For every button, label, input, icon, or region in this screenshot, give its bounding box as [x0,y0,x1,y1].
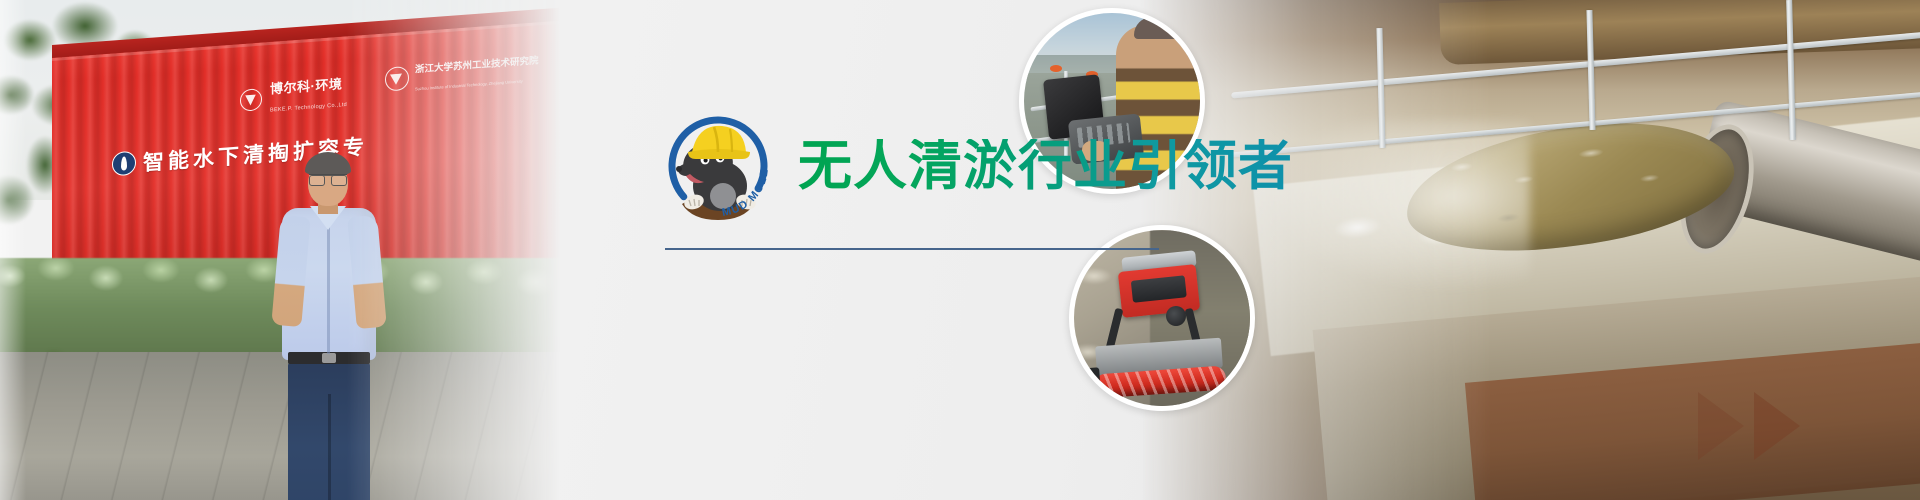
person-photo [268,150,398,500]
hair [305,152,351,176]
institute-mark-icon [385,66,409,92]
water-drop-icon [112,151,136,177]
page-title: 无人清淤行业引领者 [798,139,1299,193]
mud-mole-logo: MUD MOLE MUD MOLE [660,108,776,224]
right-photo [1140,0,1920,500]
shirt-placket [327,224,330,354]
hero-banner: 博尔科·环境 BEKE.P. Technology Co.,Ltd 浙江大学苏州… [0,0,1920,500]
left-photo: 博尔科·环境 BEKE.P. Technology Co.,Ltd 浙江大学苏州… [0,0,560,500]
glasses-icon [309,174,347,184]
belt-buckle [322,353,336,363]
arrow-decoration [1698,392,1744,460]
trousers [288,360,370,500]
divider [665,248,1159,250]
center-content: MUD MOLE MUD MOLE 无人清淤行业引领者 [660,0,1220,500]
container-institute-cn: 浙江大学苏州工业技术研究院 [415,55,539,75]
arrow-decoration [1754,392,1800,460]
logo-and-headline-row: MUD MOLE MUD MOLE 无人清淤行业引领者 [660,108,1299,224]
